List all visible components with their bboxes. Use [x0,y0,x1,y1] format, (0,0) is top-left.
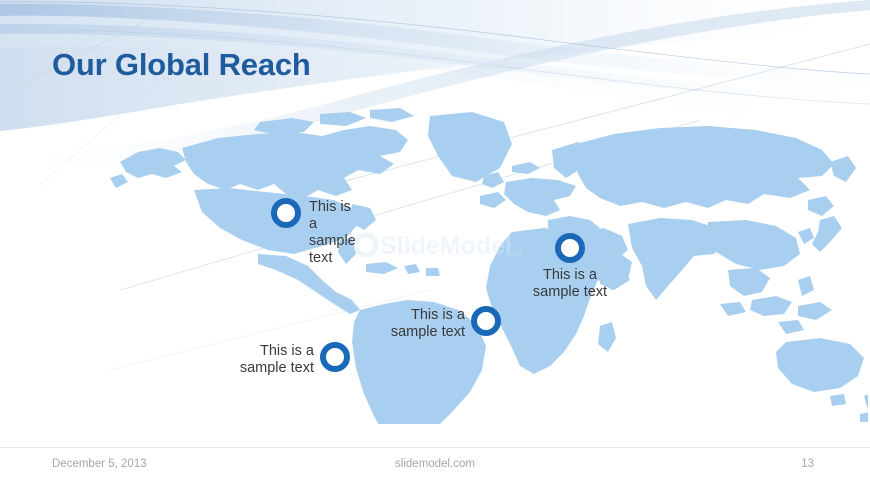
footer-brand: slidemodel.com [395,458,475,470]
footer-page-number: 13 [801,458,814,470]
location-ring-icon [471,306,501,336]
marker-label-north-america: This is a sample text [309,199,356,267]
marker-label-south-america: This is a sample text [174,343,314,377]
marker-north-america[interactable]: This is a sample text [271,198,301,228]
marker-label-asia: This is a sample text [495,267,645,301]
slide: Our Global Reach [0,0,870,489]
marker-africa[interactable]: This is a sample text [471,306,501,336]
location-ring-icon [320,342,350,372]
marker-asia[interactable]: This is a sample text [555,233,585,263]
location-ring-icon [555,233,585,263]
page-title: Our Global Reach [52,47,311,83]
marker-south-america[interactable]: This is a sample text [320,342,350,372]
marker-label-africa: This is a sample text [325,307,465,341]
footer-divider [0,447,870,448]
location-ring-icon [271,198,301,228]
footer-date: December 5, 2013 [52,458,147,470]
